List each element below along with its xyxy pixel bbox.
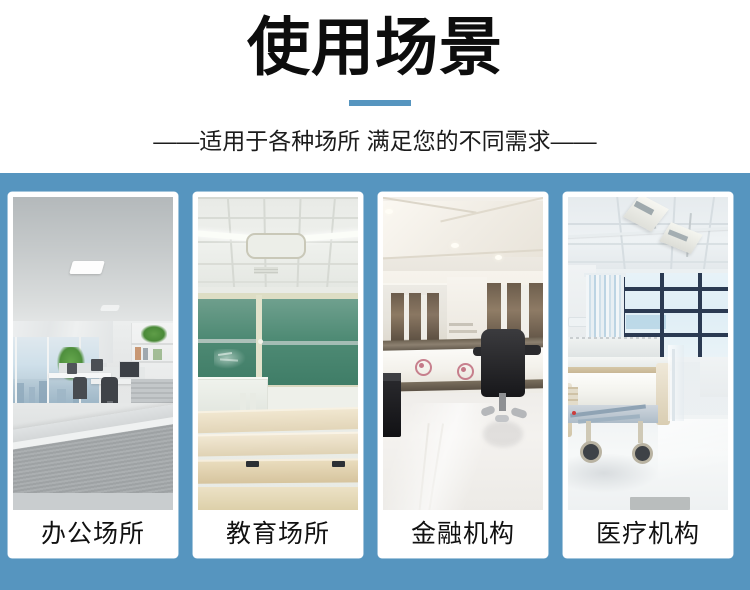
curtain-shape (391, 293, 404, 341)
hospital-bed-mattress-shape (568, 373, 660, 407)
ceiling-panel-light-icon (69, 261, 105, 274)
floor-mat-shape (630, 497, 690, 510)
wall-sign-shape (449, 330, 477, 333)
atm-screen-shape (383, 373, 401, 381)
book-shape (143, 348, 148, 360)
window-mullion-shape (47, 337, 49, 405)
page-title: 使用场景 (0, 11, 750, 85)
right-wall-shape (700, 357, 728, 397)
shelf-plant-shape (153, 349, 162, 360)
scenario-card-finance[interactable]: 金融机构 (378, 192, 548, 558)
bed-caster-wheel-shape (632, 443, 653, 464)
counter-medallion-icon (415, 359, 432, 376)
ceiling-grid-line-shape (198, 217, 358, 219)
scenarios-band: 办公场所 (0, 173, 750, 590)
downlight-icon (451, 243, 459, 248)
bank-photo (383, 197, 543, 510)
office-chair-shape (481, 329, 525, 397)
iv-pole-area-shape (668, 345, 684, 421)
office-photo (13, 197, 173, 510)
blackboard-divider-shape (198, 339, 258, 343)
downlight-icon (495, 255, 502, 260)
office-chair-shape (101, 377, 118, 403)
desk-row-shape (198, 487, 358, 510)
header-section: 使用场景 ——适用于各种场所 满足您的不同需求—— (0, 0, 750, 173)
ceiling-grid-line-shape (568, 243, 728, 245)
monitor-shape (119, 361, 140, 378)
chair-reflection-shape (483, 421, 523, 447)
scenario-label-medical: 医疗机构 (563, 510, 733, 558)
iv-pole-shape (672, 349, 675, 421)
foreground-partition-base-shape (13, 493, 173, 510)
counter-medallion-icon (457, 363, 474, 380)
book-shape (135, 347, 141, 360)
monitor-shape (67, 363, 77, 374)
ceiling-panel-light-secondary-icon (100, 305, 120, 311)
office-chair-shape (73, 377, 87, 399)
bed-leg-shape (586, 421, 591, 443)
bed-control-indicator-icon (572, 411, 576, 415)
monitor-shape (91, 359, 103, 371)
projector-housing-shape (246, 233, 306, 259)
curtain-shape (427, 293, 439, 341)
counter-medallion-center-icon (461, 367, 466, 372)
ceiling-grid-line-shape (198, 281, 358, 283)
title-underline-accent (349, 100, 411, 106)
shelf-line-shape (131, 343, 173, 345)
scenario-label-finance: 金融机构 (378, 510, 548, 558)
top-plant-shape (141, 325, 167, 343)
window-mullion-shape (698, 273, 702, 359)
desk-clamp-shape (246, 461, 259, 467)
scenario-card-education[interactable]: 教育场所 (193, 192, 363, 558)
city-building-shape (39, 381, 47, 405)
background-bed-shape (568, 339, 660, 359)
classroom-photo (198, 197, 358, 510)
wall-sign-shape (449, 323, 473, 326)
window-mullion-shape (660, 273, 664, 359)
desk-clamp-shape (332, 461, 345, 467)
page-root: 使用场景 ——适用于各种场所 满足您的不同需求—— (0, 0, 750, 590)
blackboard-divider-shape (260, 341, 358, 345)
window-mullion-shape (15, 337, 17, 405)
window-mullion-shape (620, 309, 728, 313)
hospital-photo (568, 197, 728, 510)
scenario-label-office: 办公场所 (8, 510, 178, 558)
desk-row-shape (198, 433, 358, 456)
counter-medallion-center-icon (419, 363, 424, 368)
ceiling-grid-line-shape (198, 263, 358, 265)
downlight-icon (385, 209, 393, 214)
classroom-scene-illustration (198, 197, 358, 510)
chair-caster-shape (495, 415, 509, 422)
curtain-shape (409, 293, 421, 341)
page-subtitle: ——适用于各种场所 满足您的不同需求—— (0, 125, 750, 157)
atm-machine-shape (383, 373, 401, 437)
office-scene-illustration (13, 197, 173, 510)
bank-scene-illustration (383, 197, 543, 510)
bed-caster-wheel-shape (580, 441, 602, 463)
blackboard-knob-shape (258, 339, 263, 344)
ceiling-vent-shape (254, 267, 278, 274)
window-mullion-shape (620, 287, 728, 291)
city-building-shape (17, 383, 24, 405)
scenario-card-office[interactable]: 办公场所 (8, 192, 178, 558)
wall-monitor-shape (568, 317, 588, 327)
scenario-card-medical[interactable]: 医疗机构 (563, 192, 733, 558)
hospital-scene-illustration (568, 197, 728, 510)
floor-gloss-shape (383, 403, 543, 510)
chair-post-shape (499, 393, 506, 411)
scenario-label-education: 教育场所 (193, 510, 363, 558)
scenario-card-grid: 办公场所 (0, 173, 750, 590)
desk-row-shape (198, 409, 358, 434)
bed-leg-shape (638, 421, 643, 443)
floor-gloss-shape (658, 419, 728, 509)
curtain-shape (529, 283, 543, 343)
